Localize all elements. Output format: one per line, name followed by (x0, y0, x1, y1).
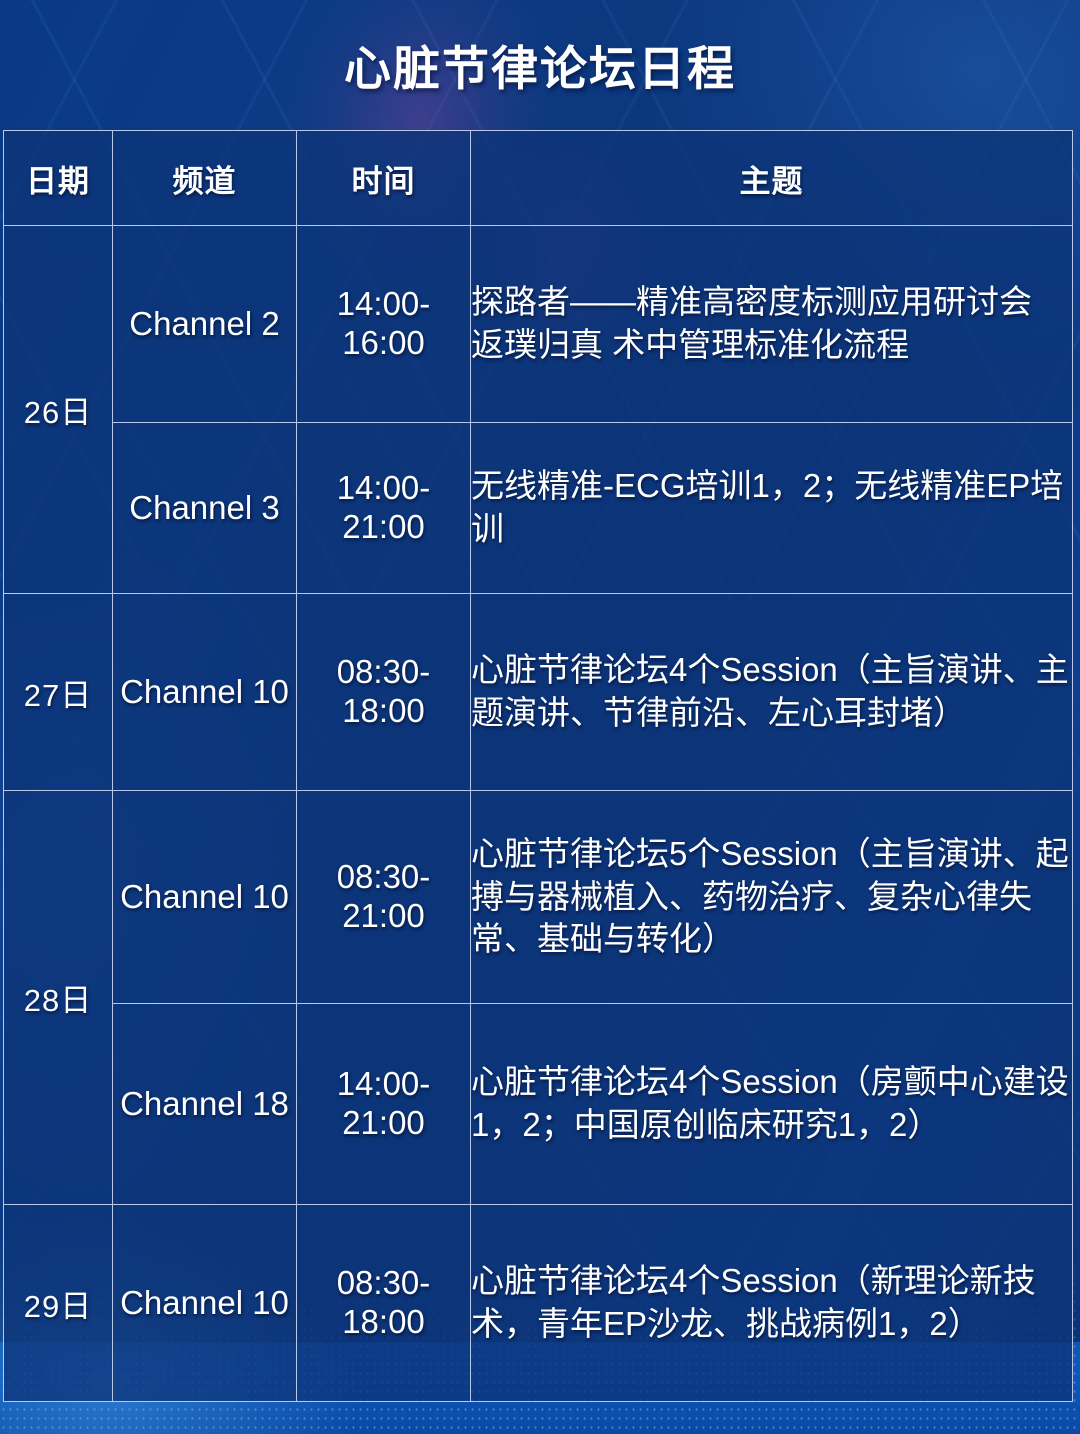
schedule-poster: 心脏节律论坛日程 日期 频道 时间 主题 26日 Channel 2 14:00… (0, 0, 1080, 1434)
cell-topic: 心脏节律论坛4个Session（新理论新技术，青年EP沙龙、挑战病例1，2） (471, 1205, 1073, 1402)
cell-channel: Channel 2 (113, 226, 297, 423)
cell-date: 27日 (4, 594, 113, 791)
column-header-time: 时间 (297, 131, 471, 226)
cell-time: 14:00-21:00 (297, 423, 471, 594)
table-header-row: 日期 频道 时间 主题 (4, 131, 1073, 226)
cell-time: 14:00-21:00 (297, 1004, 471, 1205)
cell-channel: Channel 10 (113, 791, 297, 1004)
column-header-channel: 频道 (113, 131, 297, 226)
table-row: 29日 Channel 10 08:30-18:00 心脏节律论坛4个Sessi… (4, 1205, 1073, 1402)
cell-channel: Channel 10 (113, 594, 297, 791)
table-row: Channel 3 14:00-21:00 无线精准-ECG培训1，2；无线精准… (4, 423, 1073, 594)
cell-date: 29日 (4, 1205, 113, 1402)
cell-topic: 无线精准-ECG培训1，2；无线精准EP培训 (471, 423, 1073, 594)
table-row: 27日 Channel 10 08:30-18:00 心脏节律论坛4个Sessi… (4, 594, 1073, 791)
cell-time: 08:30-18:00 (297, 1205, 471, 1402)
schedule-table: 日期 频道 时间 主题 26日 Channel 2 14:00-16:00 探路… (3, 130, 1073, 1402)
cell-date: 26日 (4, 226, 113, 594)
column-header-date: 日期 (4, 131, 113, 226)
column-header-topic: 主题 (471, 131, 1073, 226)
cell-channel: Channel 10 (113, 1205, 297, 1402)
cell-topic: 心脏节律论坛4个Session（主旨演讲、主题演讲、节律前沿、左心耳封堵） (471, 594, 1073, 791)
cell-topic: 心脏节律论坛5个Session（主旨演讲、起搏与器械植入、药物治疗、复杂心律失常… (471, 791, 1073, 1004)
cell-time: 14:00-16:00 (297, 226, 471, 423)
table-row: Channel 18 14:00-21:00 心脏节律论坛4个Session（房… (4, 1004, 1073, 1205)
cell-channel: Channel 3 (113, 423, 297, 594)
cell-time: 08:30-18:00 (297, 594, 471, 791)
table-row: 26日 Channel 2 14:00-16:00 探路者——精准高密度标测应用… (4, 226, 1073, 423)
page-title: 心脏节律论坛日程 (344, 30, 736, 99)
table-row: 28日 Channel 10 08:30-21:00 心脏节律论坛5个Sessi… (4, 791, 1073, 1004)
cell-channel: Channel 18 (113, 1004, 297, 1205)
cell-date: 28日 (4, 791, 113, 1205)
schedule-table-container: 日期 频道 时间 主题 26日 Channel 2 14:00-16:00 探路… (3, 130, 1072, 1402)
title-bar: 心脏节律论坛日程 (0, 0, 1080, 128)
cell-topic: 探路者——精准高密度标测应用研讨会 返璞归真 术中管理标准化流程 (471, 226, 1073, 423)
cell-topic: 心脏节律论坛4个Session（房颤中心建设1，2；中国原创临床研究1，2） (471, 1004, 1073, 1205)
cell-time: 08:30-21:00 (297, 791, 471, 1004)
